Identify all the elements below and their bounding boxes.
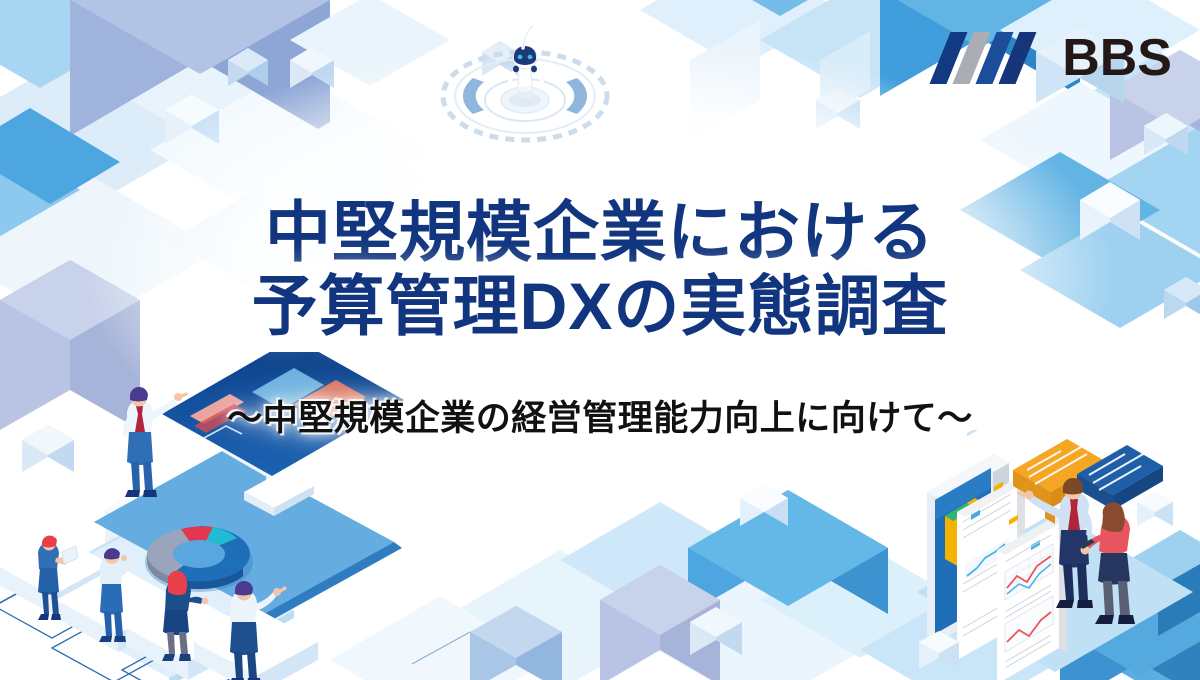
floating-cube-icon [1137,492,1173,526]
illustration-team-analytics [0,352,424,680]
ring-arc-right [566,78,587,114]
ai-robot-hero [430,18,620,148]
ring-arc-left [463,78,484,114]
floating-cube-icon-2 [919,631,959,669]
bbs-logo[interactable]: BBS [940,32,1172,84]
illustration-mobile-report [905,430,1200,680]
bbs-slanted-bars-logo-icon [940,32,1048,84]
banner-canvas: 中堅規模企業における 予算管理DXの実態調査 〜中堅規模企業の経営管理能力向上に… [0,0,1200,680]
bbs-wordmark: BBS [1062,32,1172,84]
